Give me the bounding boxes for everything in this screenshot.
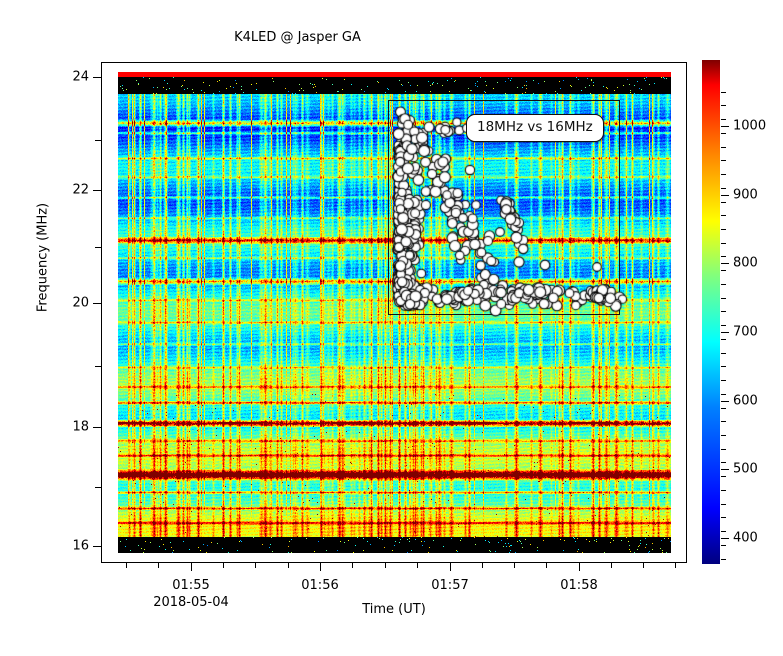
y-tick-major bbox=[93, 303, 101, 304]
colorbar-tick-label: 700 bbox=[733, 325, 758, 340]
colorbar-tick-major bbox=[721, 469, 729, 470]
colorbar-tick-minor bbox=[721, 188, 726, 189]
y-tick-major bbox=[93, 546, 101, 547]
x-tick-minor bbox=[675, 563, 676, 568]
x-tick-minor bbox=[611, 563, 612, 568]
colorbar bbox=[702, 60, 720, 564]
colorbar-tick-label: 1000 bbox=[733, 119, 766, 134]
colorbar-tick-minor bbox=[721, 325, 726, 326]
x-tick-minor bbox=[352, 563, 353, 568]
colorbar-tick-major bbox=[721, 195, 729, 196]
scatter-overlay bbox=[118, 72, 671, 553]
colorbar-tick-minor bbox=[721, 147, 726, 148]
colorbar-tick-minor bbox=[721, 559, 726, 560]
y-tick-minor bbox=[95, 140, 101, 141]
x-axis-title: Time (UT) bbox=[101, 602, 687, 617]
annotation-label: 18MHz vs 16MHz bbox=[466, 114, 604, 142]
colorbar-tick-minor bbox=[721, 394, 726, 395]
y-tick-major bbox=[93, 77, 101, 78]
x-tick-minor bbox=[385, 563, 386, 568]
colorbar-tick-major bbox=[721, 538, 729, 539]
colorbar-tick-minor bbox=[721, 256, 726, 257]
colorbar-tick-label: 400 bbox=[733, 531, 758, 546]
y-tick-label: 24 bbox=[72, 70, 89, 85]
colorbar-tick-minor bbox=[721, 339, 726, 340]
colorbar-tick-major bbox=[721, 126, 729, 127]
x-tick-minor bbox=[417, 563, 418, 568]
colorbar-tick-minor bbox=[721, 408, 726, 409]
x-tick-label: 01:56 bbox=[301, 578, 338, 593]
y-tick-minor bbox=[95, 247, 101, 248]
y-tick-label: 16 bbox=[72, 539, 89, 554]
x-tick-major bbox=[450, 563, 451, 571]
colorbar-tick-major bbox=[721, 263, 729, 264]
colorbar-tick-minor bbox=[721, 298, 726, 299]
colorbar-tick-minor bbox=[721, 105, 726, 106]
colorbar-tick-minor bbox=[721, 243, 726, 244]
colorbar-tick-minor bbox=[721, 174, 726, 175]
colorbar-tick-label: 900 bbox=[733, 188, 758, 203]
x-tick-minor bbox=[546, 563, 547, 568]
y-tick-major bbox=[93, 190, 101, 191]
colorbar-tick-minor bbox=[721, 92, 726, 93]
x-tick-minor bbox=[126, 563, 127, 568]
y-tick-label: 22 bbox=[72, 183, 89, 198]
colorbar-tick-minor bbox=[721, 435, 726, 436]
colorbar-tick-minor bbox=[721, 270, 726, 271]
colorbar-tick-minor bbox=[721, 284, 726, 285]
colorbar-tick-minor bbox=[721, 545, 726, 546]
x-tick-minor bbox=[643, 563, 644, 568]
colorbar-tick-minor bbox=[721, 449, 726, 450]
colorbar-tick-minor bbox=[721, 490, 726, 491]
colorbar-tick-minor bbox=[721, 215, 726, 216]
scatter-canvas bbox=[118, 72, 671, 553]
y-tick-minor bbox=[95, 366, 101, 367]
colorbar-tick-major bbox=[721, 401, 729, 402]
y-axis-title: Frequency (MHz) bbox=[36, 178, 51, 338]
y-tick-label: 18 bbox=[72, 420, 89, 435]
colorbar-tick-minor bbox=[721, 229, 726, 230]
colorbar-tick-minor bbox=[721, 202, 726, 203]
x-tick-major bbox=[191, 563, 192, 571]
y-tick-major bbox=[93, 427, 101, 428]
x-tick-label: 01:55 bbox=[172, 578, 209, 593]
x-tick-label: 01:57 bbox=[431, 578, 468, 593]
colorbar-tick-minor bbox=[721, 517, 726, 518]
chart-title: K4LED @ Jasper GA bbox=[0, 30, 595, 45]
x-tick-major bbox=[579, 563, 580, 571]
x-tick-minor bbox=[482, 563, 483, 568]
colorbar-tick-minor bbox=[721, 504, 726, 505]
colorbar-tick-label: 800 bbox=[733, 256, 758, 271]
x-tick-minor bbox=[514, 563, 515, 568]
y-tick-minor bbox=[95, 487, 101, 488]
colorbar-tick-minor bbox=[721, 476, 726, 477]
colorbar-tick-label: 600 bbox=[733, 394, 758, 409]
x-tick-minor bbox=[223, 563, 224, 568]
colorbar-tick-minor bbox=[721, 311, 726, 312]
colorbar-tick-minor bbox=[721, 531, 726, 532]
colorbar-tick-minor bbox=[721, 421, 726, 422]
x-tick-minor bbox=[158, 563, 159, 568]
x-tick-label: 01:58 bbox=[560, 578, 597, 593]
colorbar-tick-minor bbox=[721, 366, 726, 367]
x-tick-minor bbox=[255, 563, 256, 568]
colorbar-tick-minor bbox=[721, 380, 726, 381]
y-tick-label: 20 bbox=[72, 296, 89, 311]
colorbar-tick-minor bbox=[721, 160, 726, 161]
x-tick-major bbox=[320, 563, 321, 571]
colorbar-tick-major bbox=[721, 332, 729, 333]
colorbar-tick-minor bbox=[721, 462, 726, 463]
colorbar-tick-minor bbox=[721, 133, 726, 134]
colorbar-tick-label: 500 bbox=[733, 462, 758, 477]
x-tick-minor bbox=[288, 563, 289, 568]
colorbar-tick-minor bbox=[721, 119, 726, 120]
colorbar-tick-minor bbox=[721, 353, 726, 354]
figure-canvas: K4LED @ Jasper GA 18MHz vs 16MHz 2422201… bbox=[0, 0, 783, 656]
